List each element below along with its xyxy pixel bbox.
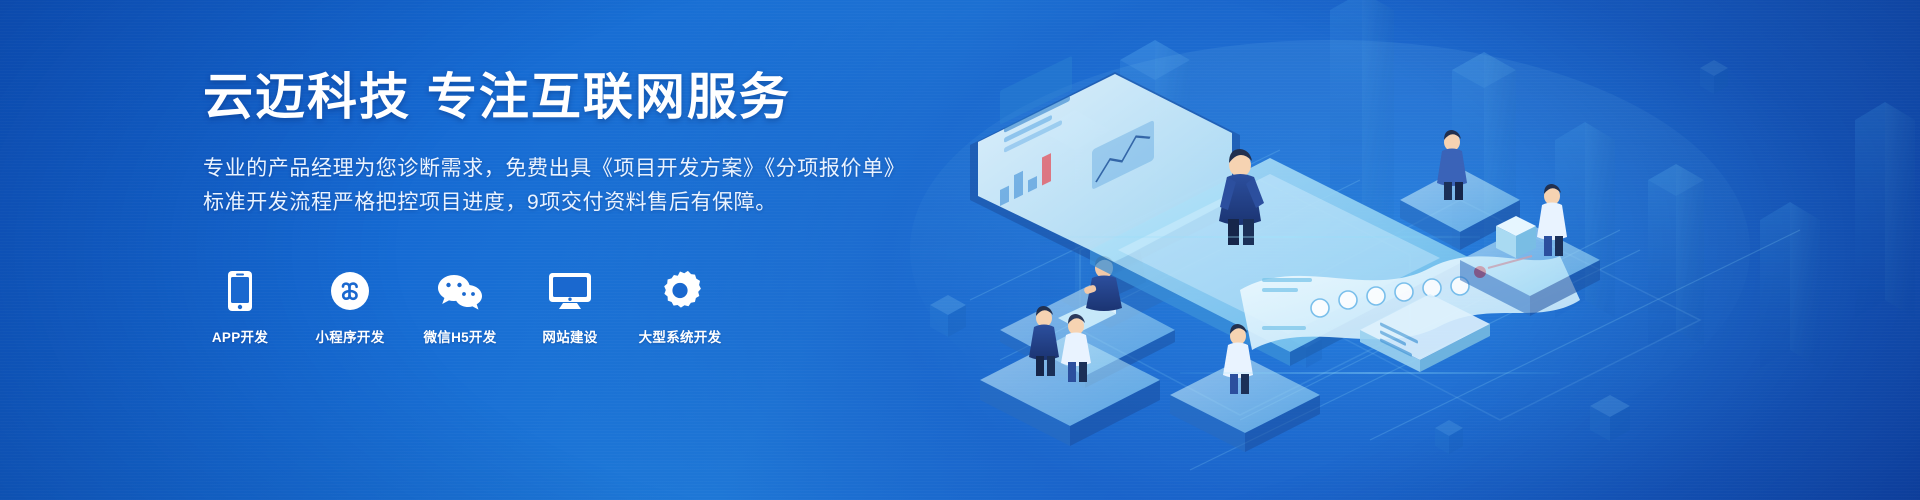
banner-subtitle-line-1: 专业的产品经理为您诊断需求，免费出具《项目开发方案》《分项报价单》 bbox=[203, 152, 923, 186]
banner-subtitle: 专业的产品经理为您诊断需求，免费出具《项目开发方案》《分项报价单》 标准开发流程… bbox=[203, 152, 923, 220]
service-item-website[interactable]: 网站建设 bbox=[533, 268, 607, 346]
gear-icon bbox=[659, 268, 701, 314]
service-label-website: 网站建设 bbox=[542, 326, 597, 346]
isometric-tech-illustration bbox=[940, 0, 1920, 500]
service-item-mini-program[interactable]: 小程序开发 bbox=[313, 268, 387, 346]
service-item-large-system[interactable]: 大型系统开发 bbox=[643, 268, 717, 346]
wechat-icon bbox=[437, 268, 483, 314]
service-label-wechat-h5: 微信H5开发 bbox=[423, 326, 496, 346]
service-label-large-system: 大型系统开发 bbox=[639, 326, 722, 346]
banner-content: 云迈科技 专注互联网服务 专业的产品经理为您诊断需求，免费出具《项目开发方案》《… bbox=[203, 68, 923, 220]
mobile-phone-icon bbox=[227, 268, 253, 314]
service-item-app[interactable]: APP开发 bbox=[203, 268, 277, 346]
banner-headline: 云迈科技 专注互联网服务 bbox=[203, 68, 923, 126]
mini-program-icon bbox=[330, 268, 370, 314]
service-label-mini-program: 小程序开发 bbox=[316, 326, 385, 346]
service-list: APP开发 小程序开发 bbox=[203, 268, 717, 346]
banner-subtitle-line-2: 标准开发流程严格把控项目进度，9项交付资料售后有保障。 bbox=[203, 186, 923, 220]
hero-banner: 云迈科技 专注互联网服务 专业的产品经理为您诊断需求，免费出具《项目开发方案》《… bbox=[0, 0, 1920, 500]
service-item-wechat[interactable]: 微信H5开发 bbox=[423, 268, 497, 346]
service-label-app: APP开发 bbox=[212, 326, 268, 346]
monitor-icon bbox=[548, 268, 592, 314]
